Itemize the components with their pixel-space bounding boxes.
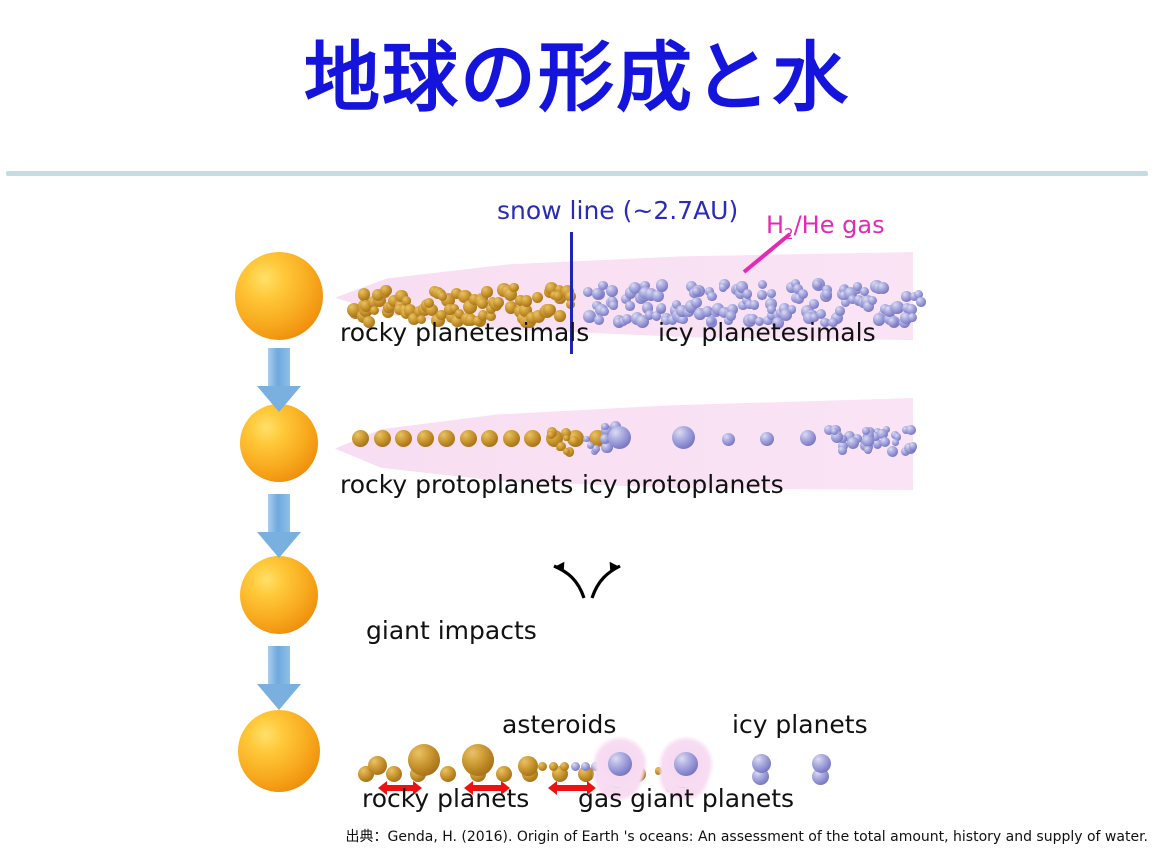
arrow-head xyxy=(257,386,301,412)
icy-planetesimal xyxy=(757,290,767,300)
snow-line-label: snow line (~2.7AU) xyxy=(497,196,738,225)
icy-protoplanet xyxy=(800,430,816,446)
icy-planetesimal xyxy=(908,313,917,322)
gas-giant-planet xyxy=(674,752,698,776)
label-icy-protoplanets: icy protoplanets xyxy=(582,470,784,499)
scatter-arrows xyxy=(520,546,630,602)
gas-label-sub: 2 xyxy=(784,225,794,243)
rocky-protoplanet xyxy=(438,430,455,447)
icy-debris xyxy=(906,425,916,435)
icy-debris xyxy=(583,436,589,442)
icy-planetesimal xyxy=(692,287,701,296)
rocky-debris xyxy=(569,436,579,446)
title-divider xyxy=(6,171,1148,176)
arrow-shaft xyxy=(268,348,290,388)
stage-arrow-2 xyxy=(257,494,301,558)
icy-planetesimal xyxy=(606,285,618,297)
icy-planetesimal xyxy=(691,297,702,308)
icy-planetesimal xyxy=(592,288,603,299)
gas-giant-planet xyxy=(608,752,632,776)
icy-planetesimal xyxy=(758,280,767,289)
sun-stage-2 xyxy=(240,404,318,482)
rocky-planetesimal xyxy=(370,306,379,315)
gas-label-prefix: H xyxy=(766,211,784,239)
arrow-head xyxy=(257,684,301,710)
arrow-shaft xyxy=(268,494,290,534)
icy-debris xyxy=(864,446,872,454)
rocky-planet xyxy=(462,744,494,776)
icy-protoplanet xyxy=(722,433,735,446)
label-rocky-protoplanets: rocky protoplanets xyxy=(340,470,573,499)
icy-planetesimal xyxy=(656,279,669,292)
gas-label: H2/He gas xyxy=(766,211,885,243)
gas-label-suffix: /He gas xyxy=(794,211,885,239)
icy-debris xyxy=(862,435,874,447)
label-gas-giant-planets: gas giant planets xyxy=(578,784,794,813)
icy-planetesimal xyxy=(888,317,898,327)
rocky-protoplanet xyxy=(440,766,456,782)
rocky-planet xyxy=(518,756,538,776)
rocky-planetesimal xyxy=(493,297,504,308)
arrow-shaft xyxy=(268,646,290,686)
rocky-planetesimal xyxy=(424,298,434,308)
page-title: 地球の形成と水 xyxy=(0,34,1154,121)
sun-stage-1 xyxy=(235,252,323,340)
rocky-protoplanet xyxy=(503,430,520,447)
icy-planetesimal xyxy=(600,307,609,316)
rocky-planetesimal xyxy=(521,295,533,307)
rocky-protoplanet xyxy=(417,430,434,447)
rocky-protoplanet xyxy=(481,430,498,447)
icy-planetesimal xyxy=(813,280,822,289)
rocky-planet xyxy=(368,756,387,775)
icy-planetesimal xyxy=(719,283,728,292)
label-giant-impacts: giant impacts xyxy=(366,616,537,645)
rocky-protoplanet xyxy=(374,430,391,447)
icy-debris xyxy=(838,446,847,455)
icy-debris xyxy=(880,437,890,447)
icy-planetesimal xyxy=(743,289,753,299)
icy-protoplanet xyxy=(608,426,631,449)
rocky-protoplanet xyxy=(395,430,412,447)
icy-planetesimal xyxy=(916,297,926,307)
label-rocky-planetesimals: rocky planetesimals xyxy=(340,318,589,347)
icy-debris xyxy=(892,439,899,446)
rocky-planetesimal xyxy=(380,285,391,296)
icy-protoplanet xyxy=(760,432,774,446)
asteroid xyxy=(560,762,569,771)
rocky-protoplanet xyxy=(460,430,477,447)
icy-planetesimal xyxy=(609,301,618,310)
rocky-planet xyxy=(408,744,440,776)
icy-debris xyxy=(587,442,594,449)
icy-planetesimal xyxy=(809,299,819,309)
source-citation: 出典：Genda, H. (2016). Origin of Earth 's … xyxy=(0,826,1154,846)
label-rocky-planets: rocky planets xyxy=(362,784,529,813)
icy-protoplanet xyxy=(672,426,695,449)
sun-stage-3 xyxy=(240,556,318,634)
stage-arrow-1 xyxy=(257,348,301,412)
asteroid xyxy=(571,762,580,771)
arrow-head xyxy=(257,532,301,558)
icy-planetesimal xyxy=(788,305,797,314)
slide-canvas: 地球の形成と水 snow line (~2.7AU) H2/He xyxy=(0,0,1154,866)
icy-debris xyxy=(601,423,608,430)
icy-planetesimal xyxy=(822,289,832,299)
icy-debris xyxy=(862,427,870,435)
asteroid xyxy=(549,762,558,771)
rocky-debris xyxy=(563,435,569,441)
asteroid xyxy=(538,762,547,771)
rocky-protoplanet xyxy=(524,430,541,447)
icy-debris xyxy=(909,442,917,450)
icy-planetesimal xyxy=(868,296,877,305)
rocky-protoplanet xyxy=(496,766,512,782)
label-icy-planetesimals: icy planetesimals xyxy=(658,318,876,347)
icy-planet xyxy=(812,754,831,773)
rocky-protoplanet xyxy=(352,430,369,447)
sun-stage-4 xyxy=(238,710,320,792)
rocky-protoplanet xyxy=(386,766,402,782)
icy-debris xyxy=(847,437,859,449)
icy-planetesimal xyxy=(835,306,845,316)
icy-planetesimal xyxy=(707,292,717,302)
icy-planetesimal xyxy=(594,315,604,325)
asteroid xyxy=(581,762,590,771)
icy-planet xyxy=(752,754,771,773)
label-icy-planets: icy planets xyxy=(732,710,868,739)
rocky-debris xyxy=(547,431,554,438)
stage-arrow-3 xyxy=(257,646,301,710)
label-asteroids: asteroids xyxy=(502,710,616,739)
planet-formation-figure: snow line (~2.7AU) H2/He gas rocky plane… xyxy=(0,178,1154,828)
icy-planetesimal xyxy=(625,301,635,311)
rocky-planetesimal xyxy=(481,286,493,298)
